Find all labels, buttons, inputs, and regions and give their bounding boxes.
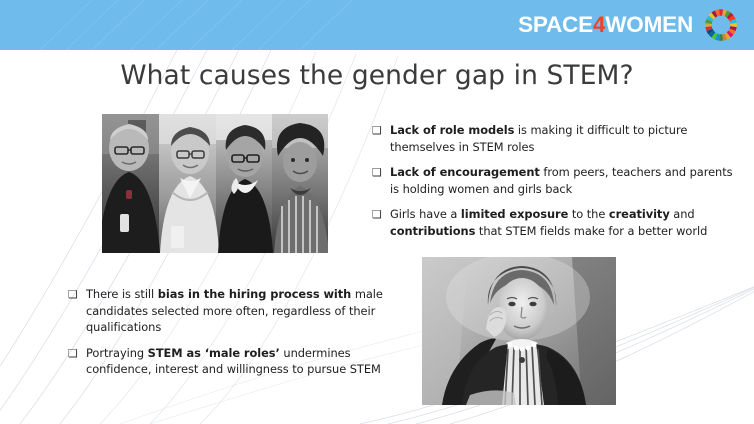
brand-text-space: SPACE [518,12,593,37]
bullet-square-icon: ❑ [68,286,86,304]
brand-text-women: WOMEN [605,12,693,37]
bullet-square-icon: ❑ [372,164,390,182]
marie-curie-photo [422,257,616,405]
bullet-text: Lack of role models is making it difficu… [390,122,740,155]
sdg-wheel-icon [702,6,740,44]
brand-text-four: 4 [593,12,605,37]
bullet-item: ❑Portraying STEM as ‘male roles’ undermi… [68,345,408,378]
bullet-list-left: ❑There is still bias in the hiring proce… [68,286,408,378]
brand-wordmark: SPACE4WOMEN [518,14,693,37]
bullet-item: ❑There is still bias in the hiring proce… [68,286,408,336]
bullet-square-icon: ❑ [68,345,86,363]
bullet-text: Lack of encouragement from peers, teache… [390,164,740,197]
header-band: SPACE4WOMEN [0,0,754,50]
slide-canvas: SPACE4WOMEN [0,0,754,424]
hidden-figures-photo [102,114,328,253]
bullet-square-icon: ❑ [372,206,390,224]
brand-lockup: SPACE4WOMEN [518,6,740,44]
slide-title: What causes the gender gap in STEM? [0,60,754,91]
bullet-text: Girls have a limited exposure to the cre… [390,206,740,239]
bullet-text: Portraying STEM as ‘male roles’ undermin… [86,345,408,378]
bullet-item: ❑Lack of encouragement from peers, teach… [372,164,740,197]
bullet-square-icon: ❑ [372,122,390,140]
bullet-item: ❑Girls have a limited exposure to the cr… [372,206,740,239]
bullet-list-right: ❑Lack of role models is making it diffic… [372,122,740,239]
bullet-text: There is still bias in the hiring proces… [86,286,408,336]
bullet-item: ❑Lack of role models is making it diffic… [372,122,740,155]
